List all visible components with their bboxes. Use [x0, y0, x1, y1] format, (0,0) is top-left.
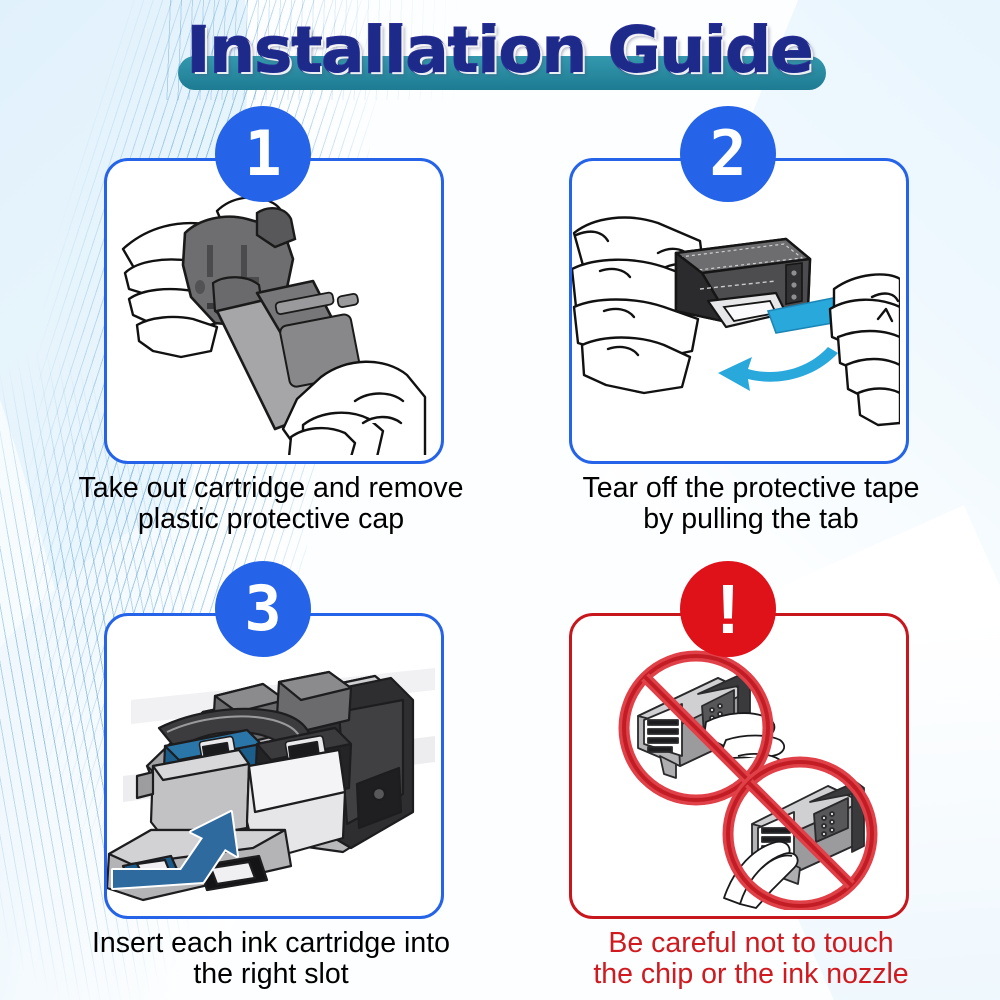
- installation-guide-page: Installation Guide: [0, 0, 1000, 1000]
- step-badge-2: 2: [680, 106, 776, 202]
- step-caption-2: Tear off the protective tape by pulling …: [514, 473, 988, 535]
- step-caption-2-line2: by pulling the tab: [514, 504, 988, 535]
- step-caption-1-line1: Take out cartridge and remove: [34, 473, 508, 504]
- warning-caption-line1: Be careful not to touch: [514, 928, 988, 959]
- step-badge-2-number: 2: [709, 123, 746, 185]
- step-1-illustration: [107, 161, 441, 461]
- warning-panel-4: [569, 613, 909, 919]
- step-caption-3-line2: the right slot: [34, 959, 508, 990]
- step-panel-1: [104, 158, 444, 464]
- page-title-block: Installation Guide: [0, 8, 1000, 98]
- step-badge-3-number: 3: [244, 578, 281, 640]
- step-caption-3-line1: Insert each ink cartridge into: [34, 928, 508, 959]
- step-caption-3: Insert each ink cartridge into the right…: [34, 928, 508, 990]
- warning-caption: Be careful not to touch the chip or the …: [514, 928, 988, 990]
- step-panel-2: [569, 158, 909, 464]
- step-caption-1-line2: plastic protective cap: [34, 504, 508, 535]
- step-badge-1-number: 1: [244, 123, 281, 185]
- warning-caption-line2: the chip or the ink nozzle: [514, 959, 988, 990]
- step-2-illustration: [572, 161, 906, 461]
- step-caption-1: Take out cartridge and remove plastic pr…: [34, 473, 508, 535]
- step-caption-2-line1: Tear off the protective tape: [514, 473, 988, 504]
- step-panel-3: [104, 613, 444, 919]
- step-badge-3: 3: [215, 561, 311, 657]
- step-4-illustration: [572, 616, 906, 916]
- step-badge-1: 1: [215, 106, 311, 202]
- step-3-illustration: [107, 616, 441, 916]
- page-title: Installation Guide: [0, 8, 1000, 94]
- warning-badge-exclamation: !: [716, 578, 739, 640]
- warning-badge: !: [680, 561, 776, 657]
